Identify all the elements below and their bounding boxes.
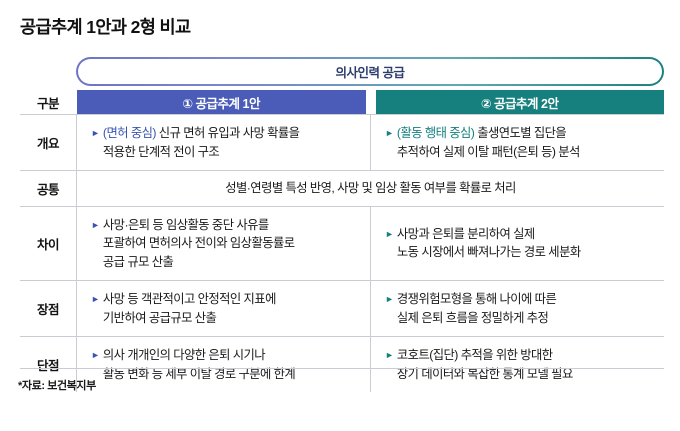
bullet-block-difference-plan1: ► 사망·은퇴 등 임상활동 중단 사유를포괄하여 면허의사 전이와 임상활동률… (91, 216, 295, 272)
disadvantage-plan2-line1: 코호트(집단) 추적을 위한 방대한 (397, 348, 553, 362)
triangle-right-icon: ► (91, 216, 100, 234)
table-header-row: 구분 ① 공급추계 1안 ② 공급추계 2안 (20, 90, 664, 114)
bullet-block-overview-plan1: ► (면허 중심) 신규 면허 유입과 사망 확률을적용한 단계적 전이 구조 (91, 124, 299, 161)
difference-plan1-line2: 포괄하여 면허의사 전이와 임상활동률로 (103, 236, 295, 250)
cell-text-overview-plan1: (면허 중심) 신규 면허 유입과 사망 확률을적용한 단계적 전이 구조 (103, 124, 300, 161)
difference-plan1-line3: 공급 규모 산출 (103, 255, 173, 269)
bullet-block-advantage-plan1: ► 사망 등 객관적이고 안정적인 지표에기반하여 공급규모 산출 (91, 290, 276, 327)
source-note: *자료: 보건복지부 (18, 377, 96, 393)
triangle-right-icon: ► (91, 290, 100, 308)
header-gap (366, 90, 376, 114)
row-label-overview: 개요 (20, 115, 76, 170)
table-row-overview: 개요 ► (면허 중심) 신규 면허 유입과 사망 확률을적용한 단계적 전이 … (20, 114, 664, 170)
page-title: 공급추계 1안과 2형 비교 (20, 14, 191, 39)
column-header-plan1: ① 공급추계 1안 (77, 90, 366, 114)
triangle-right-icon: ► (385, 124, 394, 142)
cell-text-common: 성별·연령별 특성 반영, 사망 및 임상 활동 여부를 확률로 처리 (225, 179, 516, 198)
bullet-block-advantage-plan2: ► 경쟁위험모형을 통해 나이에 따른실제 은퇴 흐름을 정밀하게 추정 (385, 290, 556, 327)
supply-banner: 의사인력 공급 (76, 57, 664, 86)
table-row-advantage: 장점 ► 사망 등 객관적이고 안정적인 지표에기반하여 공급규모 산출 ► 경… (20, 280, 664, 336)
cell-text-advantage-plan1: 사망 등 객관적이고 안정적인 지표에기반하여 공급규모 산출 (103, 290, 276, 327)
cell-difference-plan2: ► 사망과 은퇴를 분리하여 실제노동 시장에서 빠져나가는 경로 세분화 (371, 207, 664, 281)
table-bottom-rule (20, 368, 664, 369)
row-label-common: 공통 (20, 171, 76, 206)
bullet-block-difference-plan2: ► 사망과 은퇴를 분리하여 실제노동 시장에서 빠져나가는 경로 세분화 (385, 225, 581, 262)
difference-plan1-line1: 사망·은퇴 등 임상활동 중단 사유를 (103, 218, 269, 232)
cell-text-advantage-plan2: 경쟁위험모형을 통해 나이에 따른실제 은퇴 흐름을 정밀하게 추정 (397, 290, 556, 327)
highlight-overview-plan2: (활동 행태 중심) (397, 126, 474, 140)
overview-plan1-line1-rest: 신규 면허 유입과 사망 확률을 (156, 126, 300, 140)
disadvantage-plan1-line1: 의사 개개인의 다양한 은퇴 시기나 (103, 348, 265, 362)
triangle-right-icon: ► (91, 124, 100, 142)
highlight-overview-plan1: (면허 중심) (103, 126, 156, 140)
advantage-plan1-line2: 기반하여 공급규모 산출 (103, 311, 216, 325)
supply-banner-inner: 의사인력 공급 (78, 59, 663, 85)
cell-text-difference-plan1: 사망·은퇴 등 임상활동 중단 사유를포괄하여 면허의사 전이와 임상활동률로공… (103, 216, 295, 272)
cell-overview-plan2: ► (활동 행태 중심) 출생연도별 집단을추적하여 실제 이탈 패턴(은퇴 등… (371, 115, 664, 170)
difference-plan2-line2: 노동 시장에서 빠져나가는 경로 세분화 (397, 245, 581, 259)
bullet-block-disadvantage-plan1: ► 의사 개개인의 다양한 은퇴 시기나활동 변화 등 세부 이탈 경로 구분에… (91, 346, 295, 383)
cell-disadvantage-plan1: ► 의사 개개인의 다양한 은퇴 시기나활동 변화 등 세부 이탈 경로 구분에… (77, 337, 370, 392)
cell-disadvantage-plan2: ► 코호트(집단) 추적을 위한 방대한장기 데이터와 복잡한 통계 모델 필요 (371, 337, 664, 392)
overview-plan2-line1-rest: 출생연도별 집단을 (474, 126, 566, 140)
row-label-difference: 차이 (20, 207, 76, 281)
bullet-block-overview-plan2: ► (활동 행태 중심) 출생연도별 집단을추적하여 실제 이탈 패턴(은퇴 등… (385, 124, 580, 161)
triangle-right-icon: ► (385, 290, 394, 308)
advantage-plan2-line2: 실제 은퇴 흐름을 정밀하게 추정 (397, 311, 548, 325)
overview-plan1-line2: 적용한 단계적 전이 구조 (103, 145, 219, 159)
infographic-page: 공급추계 1안과 2형 비교 의사인력 공급 구분 ① 공급추계 1안 ② 공급… (0, 0, 680, 431)
difference-plan2-line1: 사망과 은퇴를 분리하여 실제 (397, 227, 535, 241)
row-label-advantage: 장점 (20, 281, 76, 336)
overview-plan2-line2: 추적하여 실제 이탈 패턴(은퇴 등) 분석 (397, 145, 580, 159)
cell-advantage-plan1: ► 사망 등 객관적이고 안정적인 지표에기반하여 공급규모 산출 (77, 281, 370, 336)
cell-text-disadvantage-plan1: 의사 개개인의 다양한 은퇴 시기나활동 변화 등 세부 이탈 경로 구분에 한… (103, 346, 295, 383)
table-row-difference: 차이 ► 사망·은퇴 등 임상활동 중단 사유를포괄하여 면허의사 전이와 임상… (20, 206, 664, 281)
table-row-disadvantage: 단점 ► 의사 개개인의 다양한 은퇴 시기나활동 변화 등 세부 이탈 경로 … (20, 336, 664, 392)
advantage-plan1-line1: 사망 등 객관적이고 안정적인 지표에 (103, 292, 276, 306)
table-row-common: 공통 성별·연령별 특성 반영, 사망 및 임상 활동 여부를 확률로 처리 (20, 170, 664, 206)
bullet-block-disadvantage-plan2: ► 코호트(집단) 추적을 위한 방대한장기 데이터와 복잡한 통계 모델 필요 (385, 346, 573, 383)
supply-banner-label: 의사인력 공급 (336, 62, 405, 81)
triangle-right-icon: ► (385, 346, 394, 364)
cell-text-disadvantage-plan2: 코호트(집단) 추적을 위한 방대한장기 데이터와 복잡한 통계 모델 필요 (397, 346, 573, 383)
column-header-plan2: ② 공급추계 2안 (376, 90, 665, 114)
advantage-plan2-line1: 경쟁위험모형을 통해 나이에 따른 (397, 292, 556, 306)
cell-text-difference-plan2: 사망과 은퇴를 분리하여 실제노동 시장에서 빠져나가는 경로 세분화 (397, 225, 581, 262)
cell-difference-plan1: ► 사망·은퇴 등 임상활동 중단 사유를포괄하여 면허의사 전이와 임상활동률… (77, 207, 370, 281)
triangle-right-icon: ► (385, 225, 394, 243)
cell-overview-plan1: ► (면허 중심) 신규 면허 유입과 사망 확률을적용한 단계적 전이 구조 (77, 115, 370, 170)
cell-text-overview-plan2: (활동 행태 중심) 출생연도별 집단을추적하여 실제 이탈 패턴(은퇴 등) … (397, 124, 580, 161)
comparison-table: 구분 ① 공급추계 1안 ② 공급추계 2안 개요 ► (면허 중심) 신규 면… (20, 90, 664, 392)
column-header-gubun: 구분 (20, 90, 76, 114)
cell-advantage-plan2: ► 경쟁위험모형을 통해 나이에 따른실제 은퇴 흐름을 정밀하게 추정 (371, 281, 664, 336)
triangle-right-icon: ► (91, 346, 100, 364)
cell-common-merged: 성별·연령별 특성 반영, 사망 및 임상 활동 여부를 확률로 처리 (77, 171, 664, 206)
